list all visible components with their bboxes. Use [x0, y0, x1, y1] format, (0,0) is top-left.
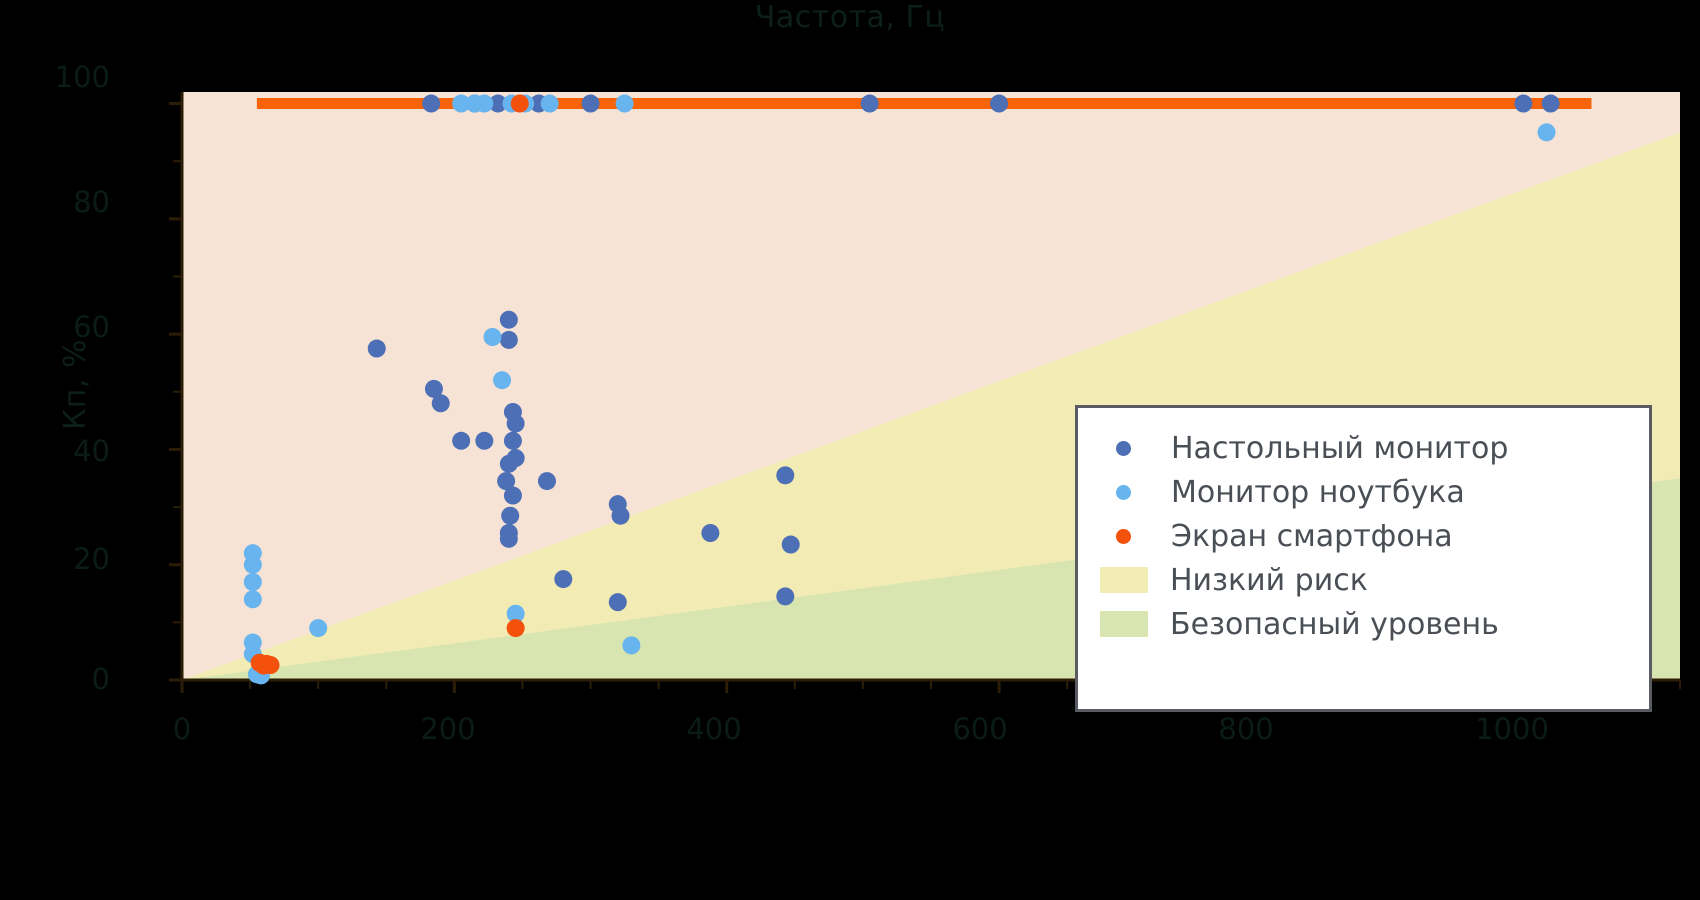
legend-marker-desktop-monitor-icon — [1116, 441, 1131, 456]
x-axis-label: Частота, Гц — [0, 0, 1700, 35]
ytick-label: 20 — [0, 542, 110, 576]
data-point — [504, 487, 522, 505]
legend-label: Настольный монитор — [1171, 431, 1508, 466]
legend-patch-low-risk-icon — [1100, 567, 1148, 593]
legend-item[interactable]: Низкий риск — [1078, 558, 1649, 602]
data-point — [475, 432, 493, 450]
data-point — [432, 394, 450, 412]
legend-item[interactable]: Монитор ноутбука — [1078, 470, 1649, 514]
data-point — [511, 95, 529, 113]
data-point — [701, 524, 719, 542]
data-point — [493, 371, 511, 389]
data-point — [500, 455, 518, 473]
data-point — [538, 472, 556, 490]
data-point — [244, 556, 262, 574]
data-point — [541, 95, 559, 113]
data-point — [262, 656, 280, 674]
data-point — [244, 573, 262, 591]
xtick-label: 400 — [654, 712, 774, 746]
legend-label: Экран смартфона — [1171, 519, 1453, 554]
data-point — [776, 466, 794, 484]
data-point — [612, 507, 630, 525]
data-point — [244, 590, 262, 608]
data-point — [507, 414, 525, 432]
data-point — [554, 570, 572, 588]
data-point — [776, 587, 794, 605]
data-point — [507, 619, 525, 637]
xtick-label: 800 — [1186, 712, 1306, 746]
data-point — [504, 432, 522, 450]
xtick-label: 0 — [122, 712, 242, 746]
data-point — [861, 95, 879, 113]
data-point — [1542, 95, 1560, 113]
data-point — [609, 593, 627, 611]
y-axis-label: Кп, % — [58, 339, 93, 430]
legend-item[interactable]: Настольный монитор — [1078, 426, 1649, 470]
legend-label: Низкий риск — [1170, 563, 1368, 598]
data-point — [1538, 123, 1556, 141]
data-point — [452, 432, 470, 450]
ytick-label: 60 — [0, 310, 110, 344]
data-point — [500, 311, 518, 329]
xtick-label: 1000 — [1452, 712, 1572, 746]
chart-root: 100 80 60 40 20 0 0 200 400 600 800 1000… — [0, 0, 1700, 900]
data-point — [501, 507, 519, 525]
legend-marker-laptop-monitor-icon — [1116, 485, 1131, 500]
xtick-label: 200 — [388, 712, 508, 746]
data-point — [500, 331, 518, 349]
data-point — [368, 340, 386, 358]
xtick-label: 600 — [920, 712, 1040, 746]
legend-label: Безопасный уровень — [1170, 607, 1499, 642]
data-point — [622, 636, 640, 654]
data-point — [1514, 95, 1532, 113]
data-point — [483, 328, 501, 346]
data-point — [782, 536, 800, 554]
ytick-label: 100 — [0, 60, 110, 94]
ytick-label: 0 — [0, 662, 110, 696]
data-point — [475, 95, 493, 113]
legend-patch-safe-level-icon — [1100, 611, 1148, 637]
legend-item[interactable]: Экран смартфона — [1078, 514, 1649, 558]
legend-label: Монитор ноутбука — [1171, 475, 1465, 510]
ytick-label: 80 — [0, 185, 110, 219]
legend-marker-smartphone-screen-icon — [1116, 529, 1131, 544]
ytick-label: 40 — [0, 434, 110, 468]
data-point — [582, 95, 600, 113]
data-point — [616, 95, 634, 113]
legend-item[interactable]: Безопасный уровень — [1078, 602, 1649, 646]
data-point — [990, 95, 1008, 113]
data-point — [422, 95, 440, 113]
data-point — [500, 530, 518, 548]
data-point — [309, 619, 327, 637]
chart-legend[interactable]: Настольный монитор Монитор ноутбука Экра… — [1075, 405, 1652, 712]
